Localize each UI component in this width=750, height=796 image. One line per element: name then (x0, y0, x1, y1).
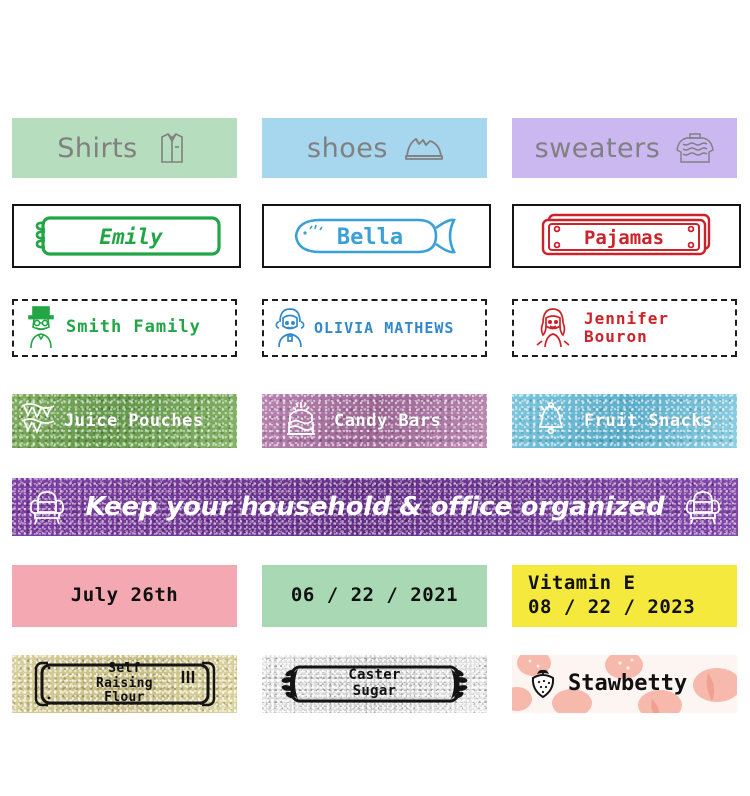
label-stawbetty[interactable]: Stawbetty (512, 655, 737, 713)
label-sweaters-text: sweaters (535, 133, 661, 164)
label-shirts[interactable]: Shirts (12, 118, 237, 178)
label-vitamin-e-text: Vitamin E 08 / 22 / 2023 (528, 572, 695, 620)
label-self-raising-flour[interactable]: Self Raising Flour (12, 655, 237, 713)
label-shoes[interactable]: shoes (262, 118, 487, 178)
framed-cell-emily: Emily (0, 205, 250, 267)
bell-icon (534, 398, 568, 444)
label-shoes-text: shoes (307, 133, 388, 164)
label-household-banner[interactable]: Keep your household & office organized (12, 478, 738, 536)
whale-frame-icon: Bella (274, 212, 479, 260)
pantry-cell-self-raising-flour: Self Raising Flour (0, 653, 250, 715)
label-emily-text: Emily (99, 225, 163, 249)
framed-cell-bella: Bella (250, 205, 500, 267)
label-fruit-snacks-text: Fruit Snacks (584, 411, 713, 431)
label-candy-bars-text: Candy Bars (334, 411, 441, 431)
date-cell-vitamin-e: Vitamin E 08 / 22 / 2023 (500, 563, 750, 629)
category-cell-shirts: Shirts (0, 118, 250, 178)
label-juice-pouches[interactable]: Juice Pouches (12, 394, 237, 448)
glitter-cell-juice-pouches: Juice Pouches (0, 391, 250, 451)
label-jennifer-line1: Jennifer (584, 309, 669, 328)
label-july-26th[interactable]: July 26th (12, 565, 237, 627)
label-bella-text: Bella (337, 225, 403, 250)
label-vitamin-e-line1: Vitamin E (528, 572, 635, 594)
label-vitamin-e[interactable]: Vitamin E 08 / 22 / 2023 (512, 565, 737, 627)
framed-label-row: Emily Bella (0, 205, 750, 267)
girl-icon (534, 303, 572, 353)
label-vitamin-e-line2: 08 / 22 / 2023 (528, 596, 695, 618)
label-pajamas-text: Pajamas (583, 227, 663, 249)
sweater-icon (674, 128, 714, 168)
shirt-icon (152, 128, 192, 168)
dashed-cell-smith-family: Smith Family (0, 297, 250, 359)
date-cell-06-22-2021: 06 / 22 / 2021 (250, 563, 500, 629)
flour-line1: Self (108, 661, 141, 676)
date-label-row: July 26th 06 / 22 / 2021 Vitamin E 08 / … (0, 563, 750, 629)
category-band-row: Shirts shoes (0, 118, 750, 178)
banner-text: Keep your household & office organized (68, 492, 682, 522)
label-date-06-22-2021[interactable]: 06 / 22 / 2021 (262, 565, 487, 627)
label-pajamas[interactable]: Pajamas (512, 204, 741, 268)
pantry-label-row: Self Raising Flour (0, 653, 750, 715)
notebook-frame-icon: Emily (27, 212, 227, 260)
boy-icon (272, 304, 308, 352)
dashed-cell-jennifer-bouron: Jennifer Bouron (500, 297, 750, 359)
flour-line3: Flour (104, 690, 145, 705)
glitter-label-row: Juice Pouches Candy Bars (0, 391, 750, 451)
bunting-icon (20, 399, 56, 443)
label-july-26th-text: July 26th (71, 584, 178, 608)
label-jennifer-bouron-text: Jennifer Bouron (584, 310, 669, 346)
glitter-cell-candy-bars: Candy Bars (250, 391, 500, 451)
pantry-cell-caster-sugar: Caster Sugar (250, 653, 500, 715)
plate-frame-icon: Pajamas (527, 211, 727, 261)
dashed-label-row: Smith Family OLIVIA MAT (0, 297, 750, 359)
label-jennifer-line2: Bouron (584, 327, 648, 346)
label-bella[interactable]: Bella (262, 204, 491, 268)
label-stawbetty-text: Stawbetty (568, 672, 687, 697)
category-cell-shoes: shoes (250, 118, 500, 178)
banner-row: Keep your household & office organized (0, 478, 750, 538)
date-cell-july: July 26th (0, 563, 250, 629)
sugar-line1: Caster (348, 667, 400, 683)
label-samples-sheet: Shirts shoes (0, 0, 750, 796)
pantry-cell-stawbetty: Stawbetty (500, 653, 750, 715)
framed-cell-pajamas: Pajamas (500, 205, 750, 267)
label-smith-family-text: Smith Family (66, 318, 201, 337)
glitter-cell-fruit-snacks: Fruit Snacks (500, 391, 750, 451)
gentleman-icon (22, 304, 60, 352)
label-jennifer-bouron[interactable]: Jennifer Bouron (512, 299, 737, 357)
strawberry-icon (526, 664, 560, 704)
label-juice-pouches-text: Juice Pouches (64, 411, 204, 431)
label-caster-sugar-text: Caster Sugar (348, 668, 400, 699)
label-self-raising-flour-text: Self Raising Flour (96, 662, 153, 706)
cake-icon (284, 398, 318, 444)
label-candy-bars[interactable]: Candy Bars (262, 394, 487, 448)
label-fruit-snacks[interactable]: Fruit Snacks (512, 394, 737, 448)
label-olivia-mathews[interactable]: OLIVIA MATHEWS (262, 299, 487, 357)
label-emily[interactable]: Emily (12, 204, 241, 268)
label-caster-sugar[interactable]: Caster Sugar (262, 655, 487, 713)
label-shirts-text: Shirts (57, 133, 138, 164)
label-smith-family[interactable]: Smith Family (12, 299, 237, 357)
label-sweaters[interactable]: sweaters (512, 118, 737, 178)
label-olivia-mathews-text: OLIVIA MATHEWS (314, 320, 454, 337)
sugar-line2: Sugar (353, 683, 397, 699)
armchair-icon (26, 485, 68, 529)
armchair-icon (682, 485, 724, 529)
shoe-icon (402, 128, 442, 168)
dashed-cell-olivia-mathews: OLIVIA MATHEWS (250, 297, 500, 359)
label-date-06-22-2021-text: 06 / 22 / 2021 (291, 584, 458, 608)
flour-line2: Raising (96, 676, 153, 691)
category-cell-sweaters: sweaters (500, 118, 750, 178)
